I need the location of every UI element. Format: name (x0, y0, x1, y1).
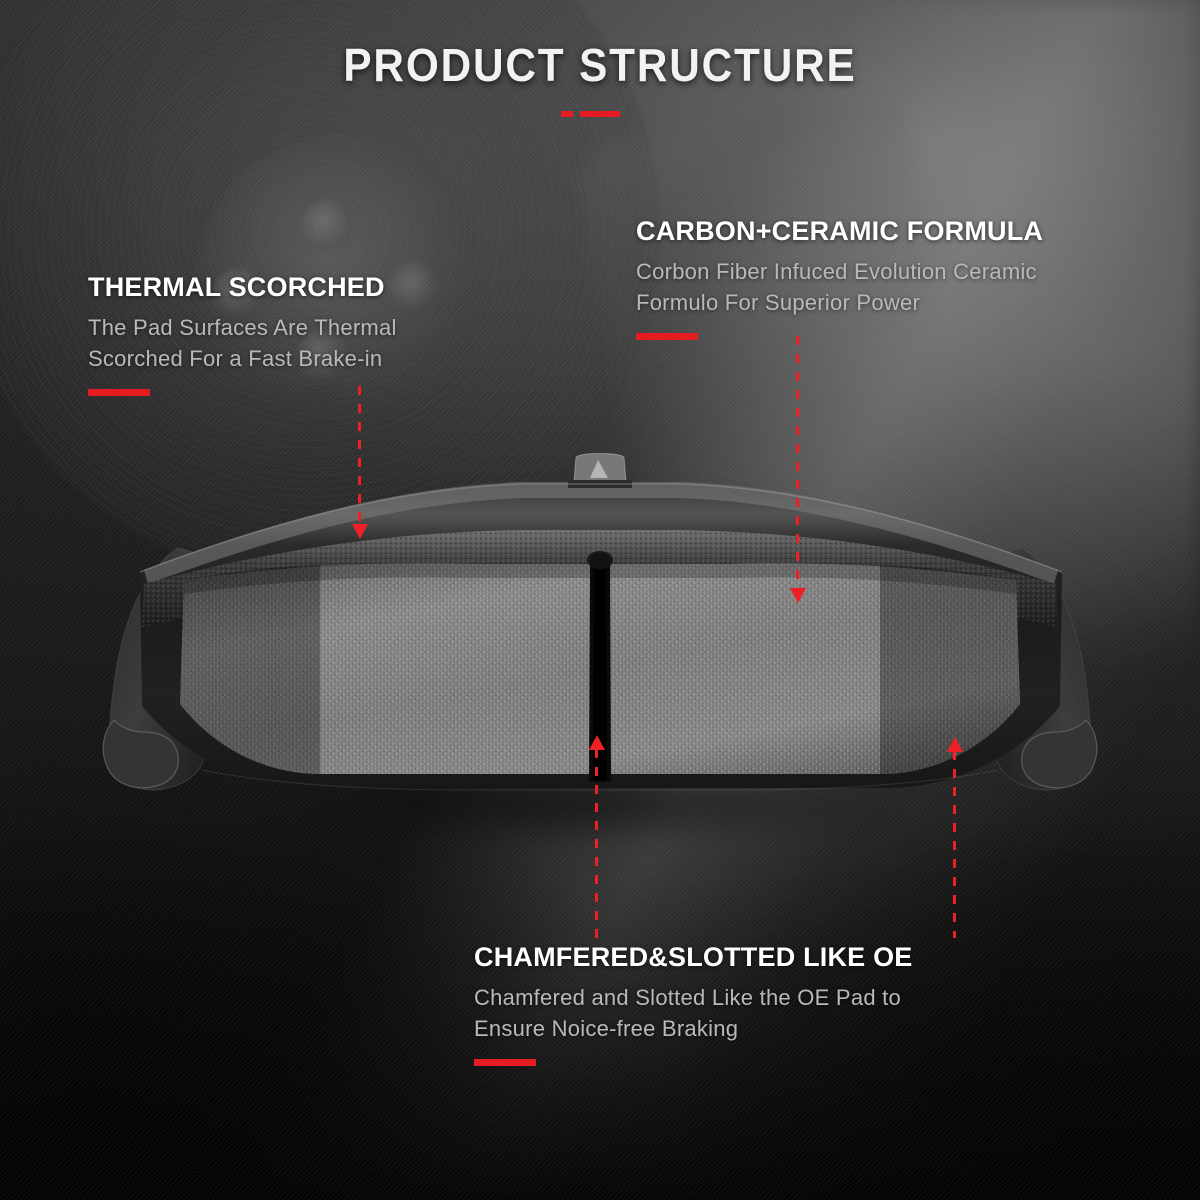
brake-pad-illustration (52, 452, 1148, 812)
center-slot-top-burr (587, 551, 613, 569)
callout-accent-bar (474, 1059, 536, 1066)
leader-dashed-line (595, 749, 598, 942)
divider-dash-long (580, 111, 620, 117)
page-title: PRODUCT STRUCTURE (48, 38, 1152, 92)
callout-body: Chamfered and Slotted Like the OE Pad to… (474, 982, 913, 1044)
callout-body-line-1: Corbon Fiber Infuced Evolution Ceramic (636, 256, 1043, 287)
callout-heading: CARBON+CERAMIC FORMULA (636, 216, 1043, 247)
callout-body-line-1: Chamfered and Slotted Like the OE Pad to (474, 982, 913, 1013)
callout-body: Corbon Fiber Infuced Evolution Ceramic F… (636, 256, 1043, 318)
callout-accent-bar (636, 333, 698, 340)
leader-line-carbon-ceramic (796, 336, 799, 602)
leader-dashed-line (358, 386, 361, 525)
callout-accent-bar (88, 389, 150, 396)
callout-heading: THERMAL SCORCHED (88, 272, 397, 303)
callout-heading: CHAMFERED&SLOTTED LIKE OE (474, 942, 913, 973)
leader-line-thermal-scorched (358, 386, 361, 538)
callout-body: The Pad Surfaces Are Thermal Scorched Fo… (88, 312, 397, 374)
callout-carbon-ceramic-formula: CARBON+CERAMIC FORMULA Corbon Fiber Infu… (636, 216, 1043, 340)
arrow-up-icon (589, 735, 605, 750)
arrow-up-icon (947, 737, 963, 752)
callout-body-line-2: Scorched For a Fast Brake-in (88, 343, 397, 374)
arrow-down-icon (352, 524, 368, 539)
title-divider (561, 110, 639, 117)
title-block: PRODUCT STRUCTURE (0, 38, 1200, 117)
callout-chamfered-slotted-like-oe: CHAMFERED&SLOTTED LIKE OE Chamfered and … (474, 942, 913, 1066)
brake-pad-product-image (52, 452, 1148, 812)
leader-dashed-line (796, 336, 799, 589)
callout-body-line-2: Ensure Noice-free Braking (474, 1013, 913, 1044)
wheel-stud-ghost (300, 200, 354, 254)
callout-body-line-2: Formulo For Superior Power (636, 287, 1043, 318)
leader-line-chamfered-edge (953, 738, 956, 938)
leader-dashed-line (953, 751, 956, 938)
leader-line-chamfered-slot (595, 736, 598, 942)
infographic-canvas: PRODUCT STRUCTURE (0, 0, 1200, 1200)
divider-dash-short (561, 111, 573, 117)
callout-body-line-1: The Pad Surfaces Are Thermal (88, 312, 397, 343)
arrow-down-icon (790, 588, 806, 603)
callout-thermal-scorched: THERMAL SCORCHED The Pad Surfaces Are Th… (88, 272, 397, 396)
